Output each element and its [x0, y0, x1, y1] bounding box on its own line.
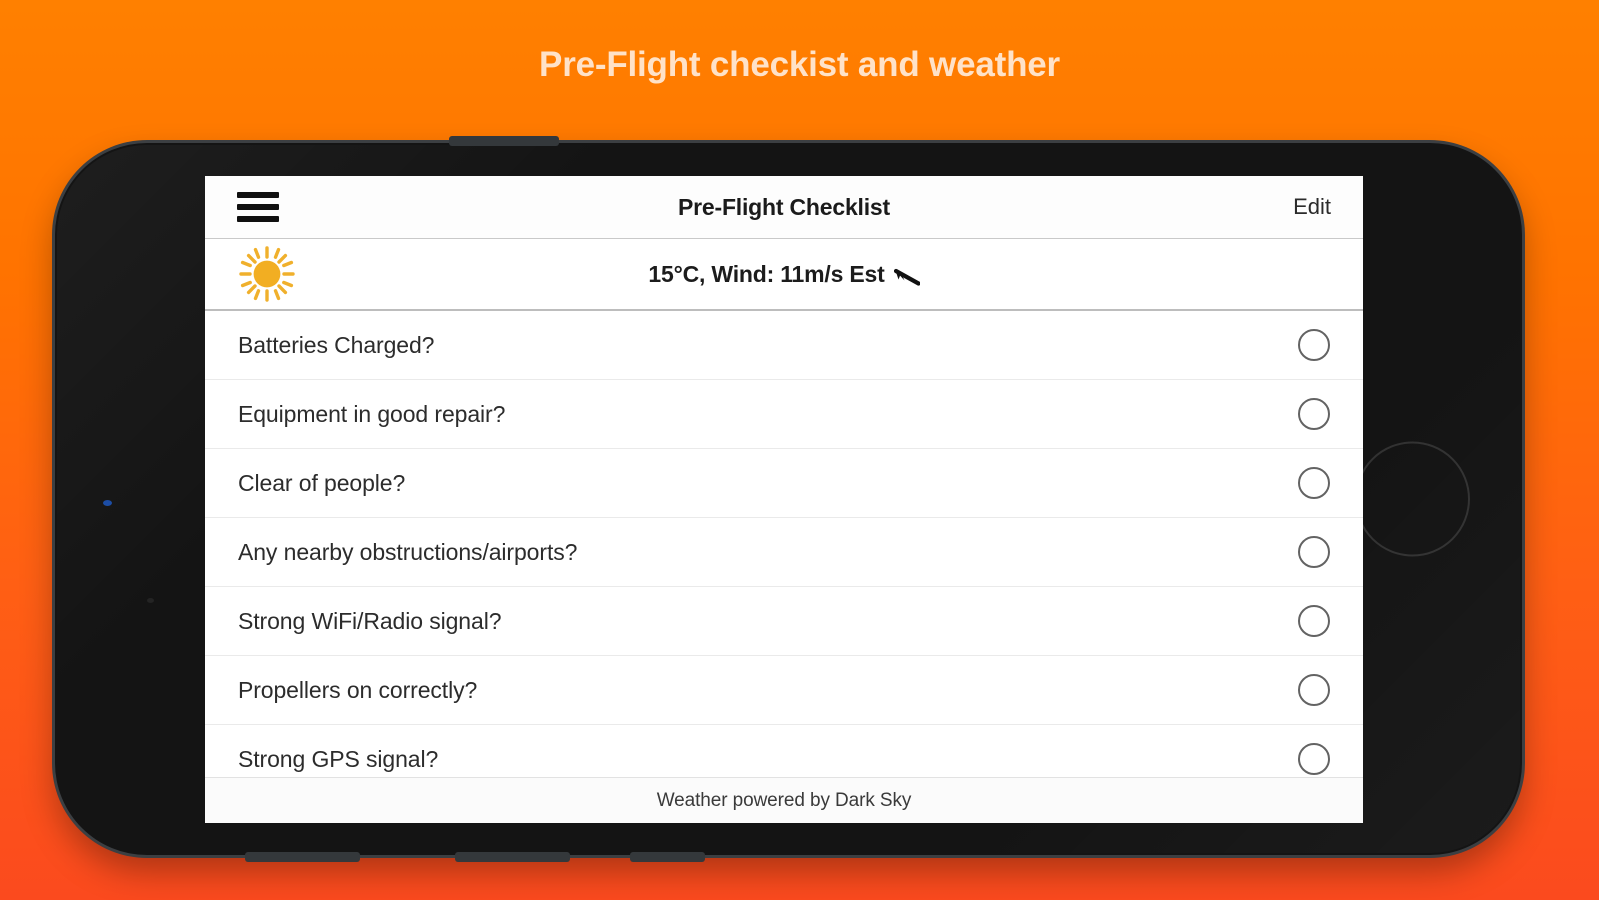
- volume-down-button[interactable]: [455, 852, 570, 862]
- checkbox-circle[interactable]: [1298, 398, 1330, 430]
- checkbox-circle[interactable]: [1298, 674, 1330, 706]
- list-item[interactable]: Propellers on correctly?: [205, 656, 1363, 725]
- app-navbar: Pre-Flight Checklist Edit: [205, 176, 1363, 239]
- home-button[interactable]: [1355, 442, 1470, 557]
- sun-icon: [238, 245, 296, 303]
- weather-summary: 15°C, Wind: 11m/s Est: [205, 261, 1363, 288]
- checkbox-circle[interactable]: [1298, 605, 1330, 637]
- checklist-item-label: Strong GPS signal?: [238, 746, 438, 773]
- wind-arrow-icon: [894, 265, 920, 283]
- page-title: Pre-Flight checkist and weather: [0, 44, 1599, 86]
- edit-button[interactable]: Edit: [1293, 194, 1331, 220]
- checkbox-circle[interactable]: [1298, 743, 1330, 775]
- checkbox-circle[interactable]: [1298, 329, 1330, 361]
- checkbox-circle[interactable]: [1298, 536, 1330, 568]
- power-button[interactable]: [449, 136, 559, 146]
- phone-screen: Pre-Flight Checklist Edit: [205, 176, 1363, 823]
- checklist-item-label: Clear of people?: [238, 470, 405, 497]
- navbar-title: Pre-Flight Checklist: [205, 194, 1363, 221]
- weather-summary-text: 15°C, Wind: 11m/s Est: [648, 261, 884, 288]
- weather-attribution-text: Weather powered by Dark Sky: [657, 790, 912, 812]
- hamburger-bar: [237, 192, 279, 198]
- front-camera-icon: [103, 500, 112, 506]
- list-item[interactable]: Equipment in good repair?: [205, 380, 1363, 449]
- list-item[interactable]: Strong WiFi/Radio signal?: [205, 587, 1363, 656]
- weather-bar[interactable]: 15°C, Wind: 11m/s Est: [205, 239, 1363, 311]
- checklist-item-label: Propellers on correctly?: [238, 677, 477, 704]
- list-item[interactable]: Strong GPS signal?: [205, 725, 1363, 777]
- checklist-item-label: Equipment in good repair?: [238, 401, 505, 428]
- hamburger-icon[interactable]: [237, 192, 279, 222]
- list-item[interactable]: Clear of people?: [205, 449, 1363, 518]
- checkbox-circle[interactable]: [1298, 467, 1330, 499]
- mute-switch-button[interactable]: [630, 852, 705, 862]
- checklist-item-label: Any nearby obstructions/airports?: [238, 539, 577, 566]
- checklist: Batteries Charged? Equipment in good rep…: [205, 311, 1363, 777]
- proximity-sensor-icon: [147, 598, 154, 603]
- checklist-item-label: Batteries Charged?: [238, 332, 434, 359]
- checklist-item-label: Strong WiFi/Radio signal?: [238, 608, 501, 635]
- weather-attribution-bar: Weather powered by Dark Sky: [205, 777, 1363, 823]
- list-item[interactable]: Any nearby obstructions/airports?: [205, 518, 1363, 587]
- volume-up-button[interactable]: [245, 852, 360, 862]
- phone-device-frame: Pre-Flight Checklist Edit: [55, 143, 1522, 855]
- list-item[interactable]: Batteries Charged?: [205, 311, 1363, 380]
- hamburger-bar: [237, 216, 279, 222]
- hamburger-bar: [237, 204, 279, 210]
